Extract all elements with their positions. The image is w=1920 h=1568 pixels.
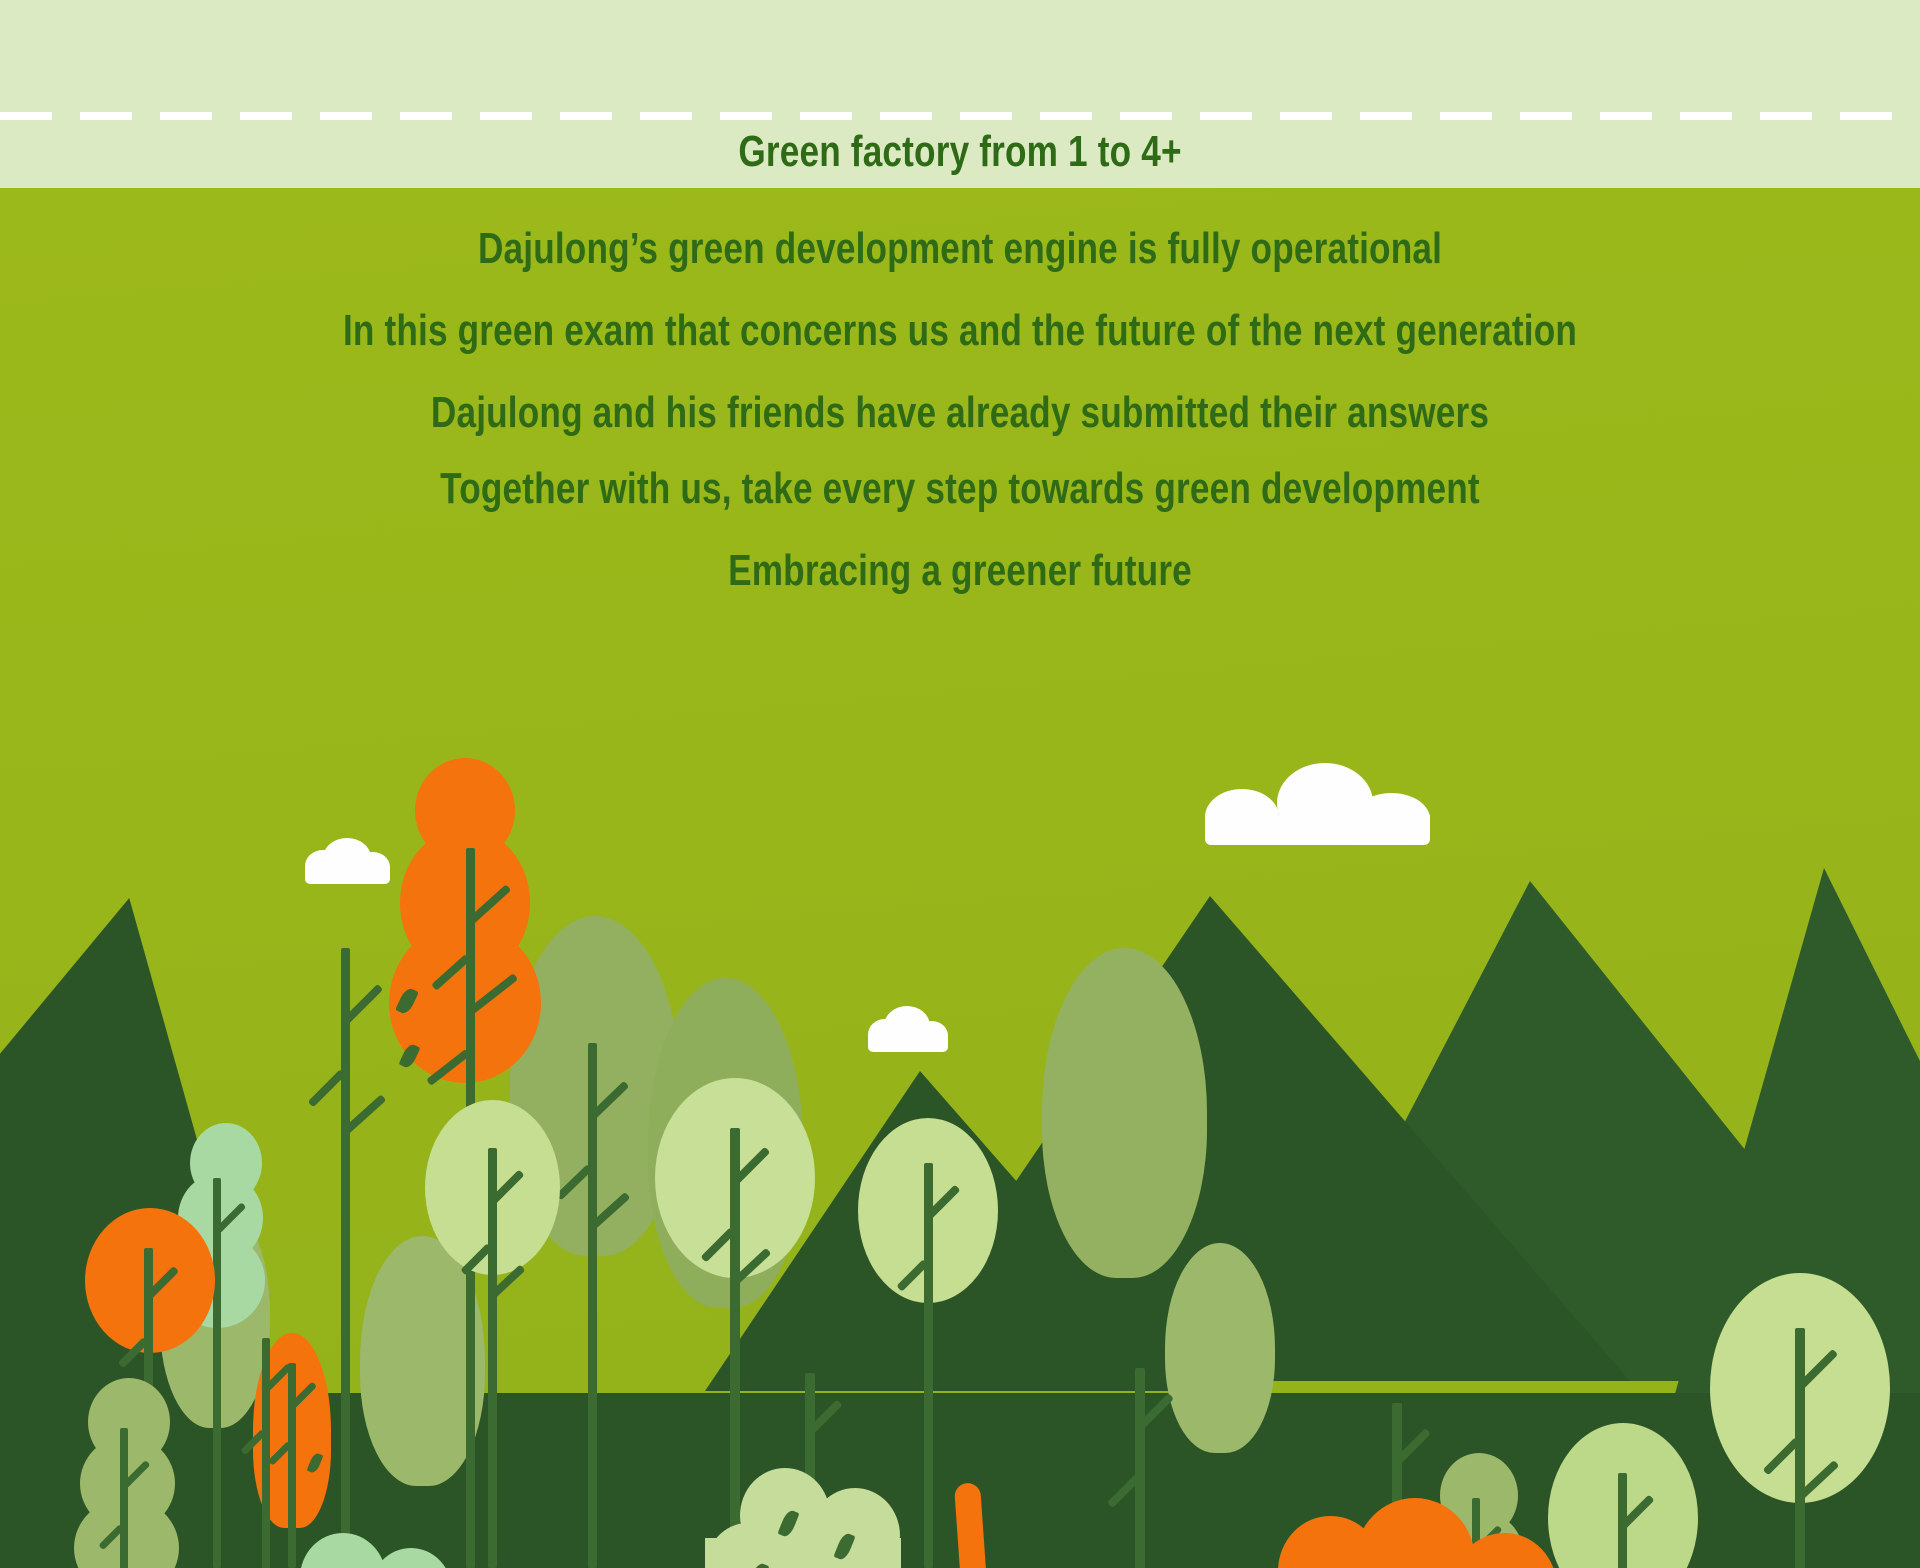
headline-copy-block: Green factory from 1 to 4+ Dajulong’s gr… — [0, 130, 1920, 593]
copy-line-3: In this green exam that concerns us and … — [192, 309, 1728, 353]
tree-trunk — [1135, 1368, 1145, 1568]
cloud-small-center — [868, 1006, 948, 1054]
tree-trunk — [262, 1338, 270, 1568]
copy-line-6: Embracing a greener future — [192, 549, 1728, 593]
poster-canvas: Green factory from 1 to 4+ Dajulong’s gr… — [0, 0, 1920, 1568]
tree-trunk — [213, 1178, 221, 1568]
bush-base-pale — [705, 1538, 901, 1568]
tree-trunk — [488, 1148, 497, 1568]
tree-canopy-olive — [1165, 1243, 1275, 1453]
tree-trunk — [588, 1043, 597, 1568]
tree-trunk — [341, 948, 350, 1568]
tree-canopy-olive — [1042, 948, 1207, 1278]
copy-line-5: Together with us, take every step toward… — [192, 467, 1728, 511]
tree-trunk — [288, 1363, 296, 1568]
tree-trunk — [730, 1128, 740, 1568]
copy-line-1: Green factory from 1 to 4+ — [192, 130, 1728, 174]
dashed-divider-line — [0, 112, 1920, 120]
tree-trunk — [924, 1163, 933, 1568]
copy-line-4: Dajulong and his friends have already su… — [192, 391, 1728, 435]
tree-trunk — [1795, 1328, 1805, 1568]
copy-line-2: Dajulong’s green development engine is f… — [192, 227, 1728, 271]
tree-trunk — [120, 1428, 128, 1568]
cloud-large-right — [1205, 763, 1430, 843]
cloud-small-left — [305, 838, 390, 886]
